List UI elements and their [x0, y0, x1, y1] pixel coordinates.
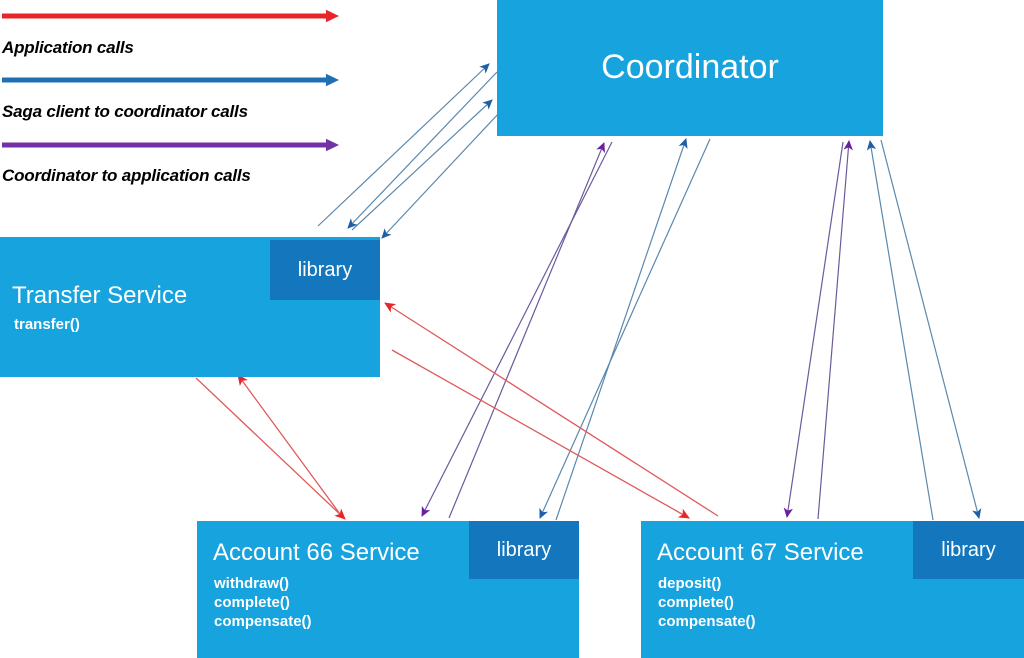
library-label: library	[941, 539, 995, 561]
coordinator-call-wires	[422, 141, 849, 519]
account67-service-operations: deposit() complete() compensate()	[658, 574, 756, 631]
operation-item: transfer()	[14, 315, 80, 334]
diagram-canvas: Application calls Saga client to coordin…	[0, 0, 1024, 656]
arrow-right-icon	[0, 4, 348, 34]
wire-account67-lib-to-coordinator	[870, 141, 933, 520]
wire-coordinator-to-account67-service	[787, 142, 843, 517]
wire-account67-to-transfer-library	[385, 303, 718, 516]
operation-item: complete()	[658, 593, 756, 612]
legend-label-coordinator-calls: Coordinator to application calls	[2, 166, 251, 186]
operation-item: deposit()	[658, 574, 756, 593]
arrow-right-icon	[0, 68, 348, 98]
account66-service-title: Account 66 Service	[213, 540, 420, 566]
operation-item: compensate()	[214, 612, 312, 631]
transfer-service-title: Transfer Service	[12, 283, 187, 309]
library-label: library	[497, 539, 551, 561]
wire-transfer-to-account67	[392, 350, 689, 518]
wire-account66-to-transfer	[238, 375, 340, 514]
wire-account66-lib-to-coordinator	[556, 139, 686, 520]
legend-label-saga-client-calls: Saga client to coordinator calls	[2, 102, 248, 122]
node-account67-service-library[interactable]: library	[913, 521, 1024, 579]
node-transfer-service-library[interactable]: library	[270, 240, 380, 300]
arrow-right-icon	[0, 133, 348, 163]
legend-label-application-calls: Application calls	[2, 38, 134, 58]
wire-transfer-lib-to-coordinator-b	[352, 100, 492, 230]
transfer-service-operations: transfer()	[14, 315, 80, 334]
legend-item-saga-client-calls: Saga client to coordinator calls	[0, 68, 360, 98]
account67-service-title: Account 67 Service	[657, 540, 864, 566]
wire-account66-to-coordinator-purple	[449, 143, 604, 518]
node-account66-service-library[interactable]: library	[469, 521, 579, 579]
coordinator-title: Coordinator	[601, 54, 779, 80]
operation-item: withdraw()	[214, 574, 312, 593]
account66-service-operations: withdraw() complete() compensate()	[214, 574, 312, 631]
wire-coordinator-to-transfer-lib-a	[348, 72, 497, 228]
wire-account67-to-coordinator-purple	[818, 141, 849, 519]
operation-item: compensate()	[658, 612, 756, 631]
wire-coordinator-to-account66-lib	[540, 139, 710, 518]
legend-item-application-calls: Application calls	[0, 4, 360, 34]
operation-item: complete()	[214, 593, 312, 612]
library-label: library	[298, 259, 352, 281]
legend-item-coordinator-calls: Coordinator to application calls	[0, 133, 360, 163]
wire-transfer-to-account66	[196, 378, 345, 519]
node-coordinator[interactable]: Coordinator	[497, 0, 883, 136]
wire-coordinator-to-account67-lib	[881, 140, 979, 518]
wire-coordinator-to-account66-service	[422, 142, 612, 516]
